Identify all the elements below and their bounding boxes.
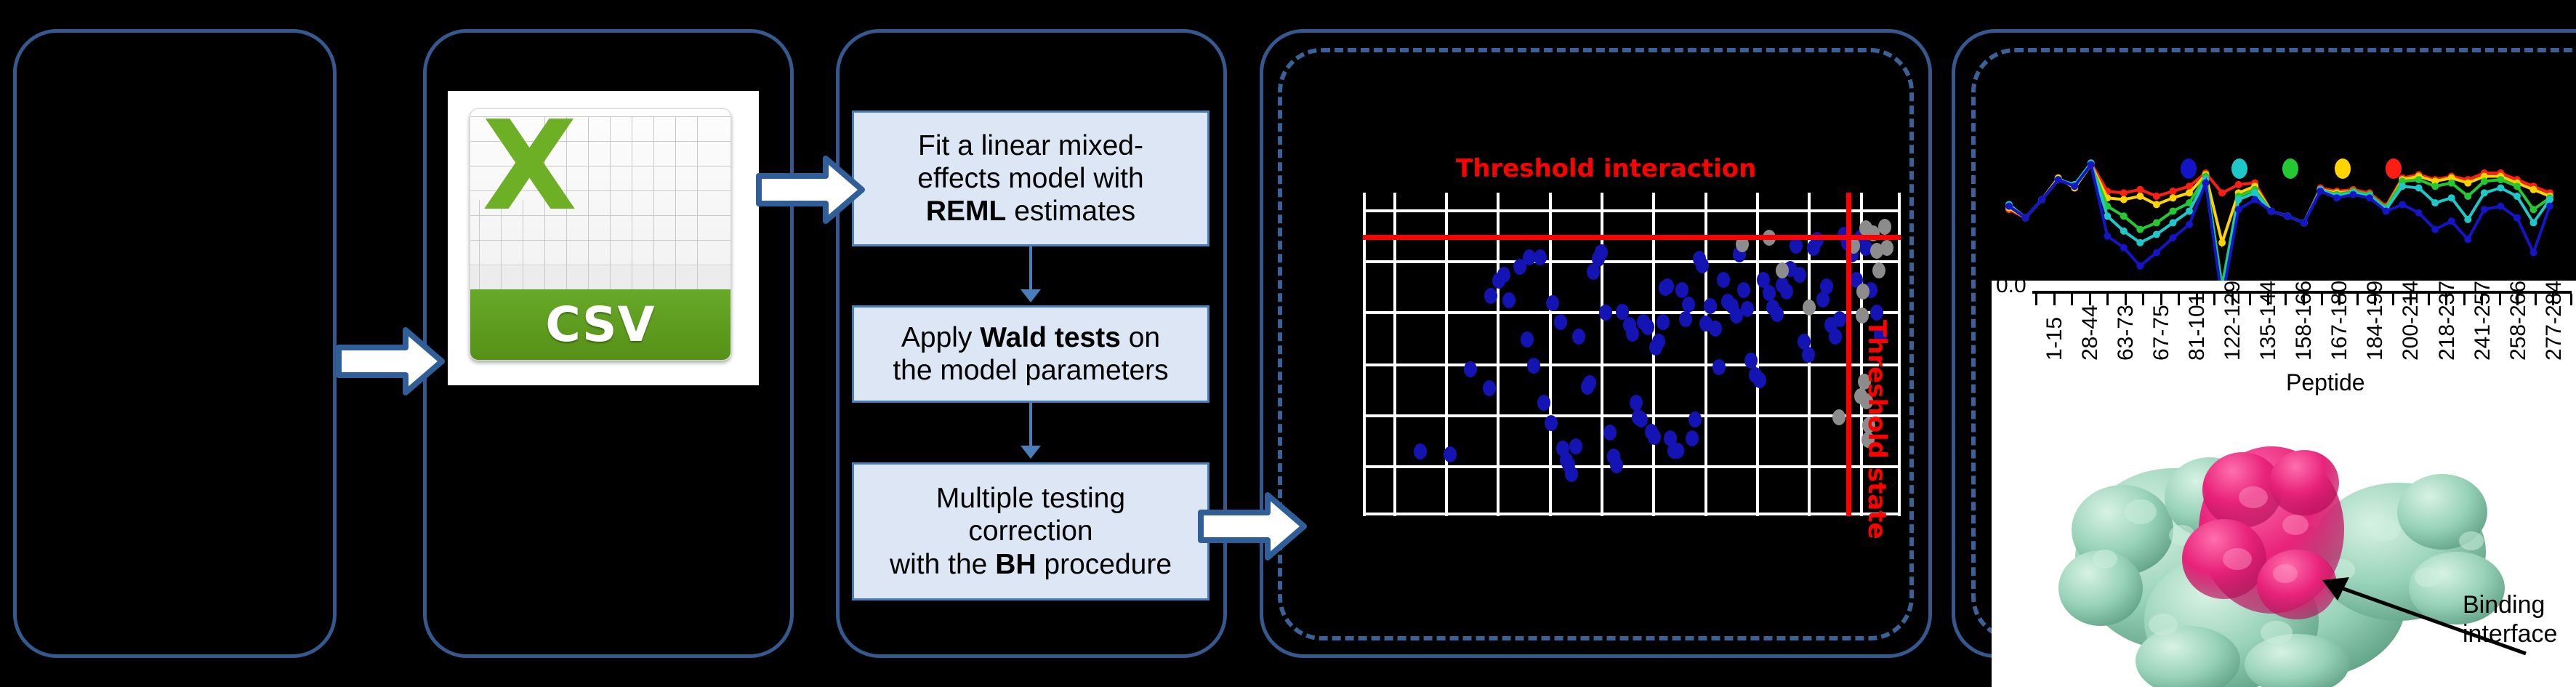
mt-line-1: Multiple testing [890,482,1172,515]
line-marker [2169,234,2176,241]
threshold-state-line [1846,193,1851,516]
line-marker [2431,226,2439,233]
csv-file-card: X CSV [448,91,759,385]
scatter-point [1829,329,1842,345]
line-marker [2448,217,2455,225]
flow-arrow-2 [756,154,865,225]
line-marker [2497,176,2504,183]
line-marker [2120,189,2128,196]
line-marker [2333,194,2340,201]
input-panel [13,29,337,658]
line-marker [2529,219,2537,226]
scatter-point [1675,282,1689,298]
scatter-point [1793,267,1806,283]
line-marker [2235,196,2242,203]
line-marker [2169,207,2176,214]
x-axis-tick [2249,294,2251,305]
scatter-point [1878,219,1891,235]
connector-2-arrowhead [1021,446,1041,459]
line-marker [2251,189,2258,196]
line-marker [2284,212,2291,220]
line-marker [2104,233,2111,240]
peptide-tick-label: 258-266 [2506,281,2531,361]
fit-model-line-1: Fit a linear mixed- [917,129,1143,162]
line-marker [2349,191,2356,198]
scatter-point [1569,438,1582,454]
scatter-point [1565,466,1578,482]
scatter-point [1464,361,1477,377]
line-marker [2383,207,2390,214]
line-marker [2120,228,2128,235]
right-arrow-icon [1198,491,1307,562]
peptide-tick-label: 135-144 [2256,281,2281,361]
scatter-point [1502,292,1516,308]
line-marker [2481,206,2488,213]
line-marker [2251,196,2258,203]
scatter-point [1689,411,1702,427]
legend-dot-timepoint-5 [2386,158,2402,179]
fit-model-line-3: REML estimates [917,195,1143,228]
line-marker [2529,186,2537,193]
peptide-tick-label: 277-284 [2542,281,2567,361]
scatter-point [1497,267,1510,283]
wald-line-1: Apply Wald tests on [893,321,1168,354]
line-marker [2415,176,2423,183]
scatter-point [1527,358,1540,374]
line-marker [2431,199,2439,206]
scatter-point [1595,244,1608,260]
legend-dot-timepoint-4 [2335,158,2351,179]
line-marker [2415,185,2423,192]
x-axis-tick [2089,294,2091,305]
legend-dot-timepoint-2 [2231,158,2247,179]
scatter-point [1771,306,1784,322]
line-marker [2169,188,2176,195]
scatter-point [1717,272,1730,288]
scatter-point [1521,332,1534,347]
scatter-point [1832,409,1846,425]
line-marker [2431,182,2439,190]
peptide-tick-label: 67-75 [2149,305,2174,361]
csv-extension-label: CSV [545,297,655,353]
scatter-point [1704,298,1717,314]
line-marker [2464,236,2471,243]
line-marker [2268,207,2275,214]
line-marker [2120,196,2128,203]
scatter-point [1679,311,1692,327]
line-marker [2055,176,2062,183]
line-marker [2088,161,2095,169]
threshold-scatter-plot[interactable] [1363,193,1901,516]
scatter-point [1696,257,1709,273]
x-axis-tick [2570,294,2572,305]
line-marker [2136,226,2144,233]
line-marker [2399,182,2406,190]
peptide-axis-card: 0.0 1-1528-4463-7367-7581-101122-129135-… [1992,281,2576,403]
scatter-point [1790,238,1803,254]
scatter-point [1554,314,1567,330]
scatter-point [1546,295,1559,311]
line-marker [2448,194,2455,201]
line-marker [2366,194,2373,201]
scatter-point [1820,278,1833,294]
scatter-point [1671,443,1684,459]
peptide-tick-label: 200-214 [2399,281,2423,361]
line-marker [2038,196,2045,203]
wald-keyword: Wald tests [980,322,1121,353]
connector-2 [1029,403,1032,448]
flow-arrow-1 [336,326,445,397]
fit-model-line-2: effects model with [917,162,1143,195]
wald-line-2: the model parameters [893,354,1168,387]
scatter-point [1753,372,1766,388]
line-marker [2153,201,2160,208]
x-axis-tick [2053,294,2056,305]
legend-dot-timepoint-1 [2181,158,2197,179]
x-axis-tick [2125,294,2127,305]
right-arrow-icon [756,154,865,225]
flow-arrow-3 [1198,491,1307,562]
line-marker [2136,239,2144,246]
binding-interface-line-1: Binding [2463,590,2557,619]
line-marker [2136,262,2144,270]
x-axis-tick [2160,294,2162,305]
line-marker [2169,194,2176,201]
scatter-point [1572,329,1585,345]
peptide-tick-label: 28-44 [2078,305,2103,361]
x-axis-tick [2071,294,2073,305]
line-marker [2235,206,2242,213]
threshold-state-label: Threshold state [1862,320,1891,539]
line-marker [2005,203,2013,210]
csv-extension-band: CSV [470,289,730,360]
bh-keyword: BH [995,549,1036,580]
scatter-point [1686,430,1699,446]
x-axis-tick [2035,294,2037,305]
line-marker [2153,193,2160,200]
scatter-point [1712,359,1726,375]
line-marker [2448,180,2455,187]
scatter-point [1870,305,1883,321]
scatter-point [1661,278,1674,294]
line-marker [2481,189,2488,196]
scatter-point [1583,375,1596,391]
line-marker [2153,230,2160,238]
x-axis-tick [2428,294,2430,305]
scatter-point [1763,285,1776,301]
x-axis-tick [2106,294,2109,305]
threshold-interaction-label: Threshold interaction [1456,154,1756,183]
x-axis-tick [2285,294,2287,305]
scatter-point [1856,284,1869,300]
scatter-point [1802,347,1815,363]
x-axis-tick [2499,294,2501,305]
x-axis-tick [2213,294,2215,305]
line-marker [2186,221,2193,228]
line-marker [2186,189,2193,196]
line-marker [2169,219,2176,226]
binding-interface-line-2: interface [2463,619,2557,648]
line-marker [2513,182,2521,190]
peptide-tick-label: 122-129 [2221,281,2245,361]
line-marker [2022,214,2029,222]
line-marker [2136,193,2144,200]
excel-x-letter: X [482,108,577,228]
scatter-point [1414,443,1427,459]
scatter-point [1709,321,1722,337]
line-marker [2235,181,2242,188]
x-axis-tick [2535,294,2537,305]
peptide-tick-label: 63-73 [2114,305,2138,361]
scatter-point [1682,297,1695,313]
x-axis-title: Peptide [2286,369,2365,396]
line-marker [2513,193,2521,200]
scatter-point [1603,425,1617,441]
scatter-point [1741,301,1754,317]
fit-model-box[interactable]: Fit a linear mixed- effects model with R… [852,111,1209,246]
line-marker [2415,209,2423,217]
line-marker [2317,188,2324,195]
mt-line-2: correction [890,515,1172,547]
line-marker [2071,182,2078,190]
scatter-point [1652,334,1665,350]
scatter-point [1610,457,1623,473]
line-marker [2153,219,2160,226]
peptide-tick-label: 167-180 [2327,281,2352,361]
line-marker [2464,193,2471,200]
scatter-point [1737,282,1750,298]
right-arrow-icon [336,326,445,397]
line-marker [2546,196,2553,203]
line-marker [2136,186,2144,193]
x-axis-tick [2142,294,2144,305]
legend-dot-timepoint-3 [2282,158,2298,179]
peptide-tick-label: 218-237 [2435,281,2460,361]
scatter-point [1872,262,1885,278]
x-axis-tick [2463,294,2466,305]
line-marker [2464,216,2471,223]
line-marker [2301,219,2308,226]
line-marker [2399,201,2406,208]
scatter-point [1648,429,1661,445]
line-marker [2218,189,2226,196]
scatter-point [1444,446,1457,462]
line-marker [2186,207,2193,214]
x-axis-tick [2356,294,2359,305]
scatter-point [1776,262,1789,278]
binding-interface-label: Binding interface [2463,590,2557,648]
line-marker [2529,206,2537,213]
scatter-point [1780,284,1793,300]
csv-file-icon[interactable]: X CSV [470,108,731,361]
scatter-point [1657,314,1670,330]
wald-tests-box[interactable]: Apply Wald tests on the model parameters [852,305,1209,403]
x-axis-tick [2392,294,2394,305]
x-axis-tick [2178,294,2180,305]
line-marker [2513,214,2521,222]
scatter-point [1599,305,1612,321]
protein-complex-structure[interactable]: Binding interface [1992,403,2576,687]
scatter-point [1880,240,1893,256]
threshold-interaction-line [1363,235,1901,240]
peptide-tick-label: 81-101 [2185,293,2210,361]
scatter-point [1833,311,1846,327]
line-marker [2202,180,2210,187]
line-marker [2481,177,2488,185]
scatter-point [1630,395,1643,411]
line-marker [2120,244,2128,252]
x-axis-tick [2321,294,2323,305]
peptide-tick-label: 158-166 [2292,281,2317,361]
peptide-tick-label: 184-199 [2363,281,2388,361]
peptide-tick-label: 1-15 [2042,317,2067,361]
line-marker [2153,249,2160,257]
line-marker [2497,203,2504,210]
peptide-tick-label: 241-257 [2471,281,2495,361]
scatter-point [1483,380,1496,396]
scatter-point [1484,288,1497,304]
connector-1 [1029,246,1032,292]
scatter-point [1744,353,1758,369]
y-axis-zero-label: 0.0 [1996,281,2026,298]
line-marker [2464,180,2471,187]
mt-line-3: with the BH procedure [890,548,1172,581]
connector-1-arrowhead [1021,289,1041,302]
line-marker [2546,203,2553,210]
line-marker [2497,185,2504,192]
line-marker [2120,212,2128,220]
multiple-testing-box[interactable]: Multiple testing correction with the BH … [852,462,1209,600]
scatter-point [1635,411,1648,427]
line-marker [2218,239,2226,246]
scatter-point [1626,326,1639,342]
line-marker [2529,249,2537,257]
scatter-point [1545,415,1558,431]
reml-keyword: REML [926,196,1007,227]
